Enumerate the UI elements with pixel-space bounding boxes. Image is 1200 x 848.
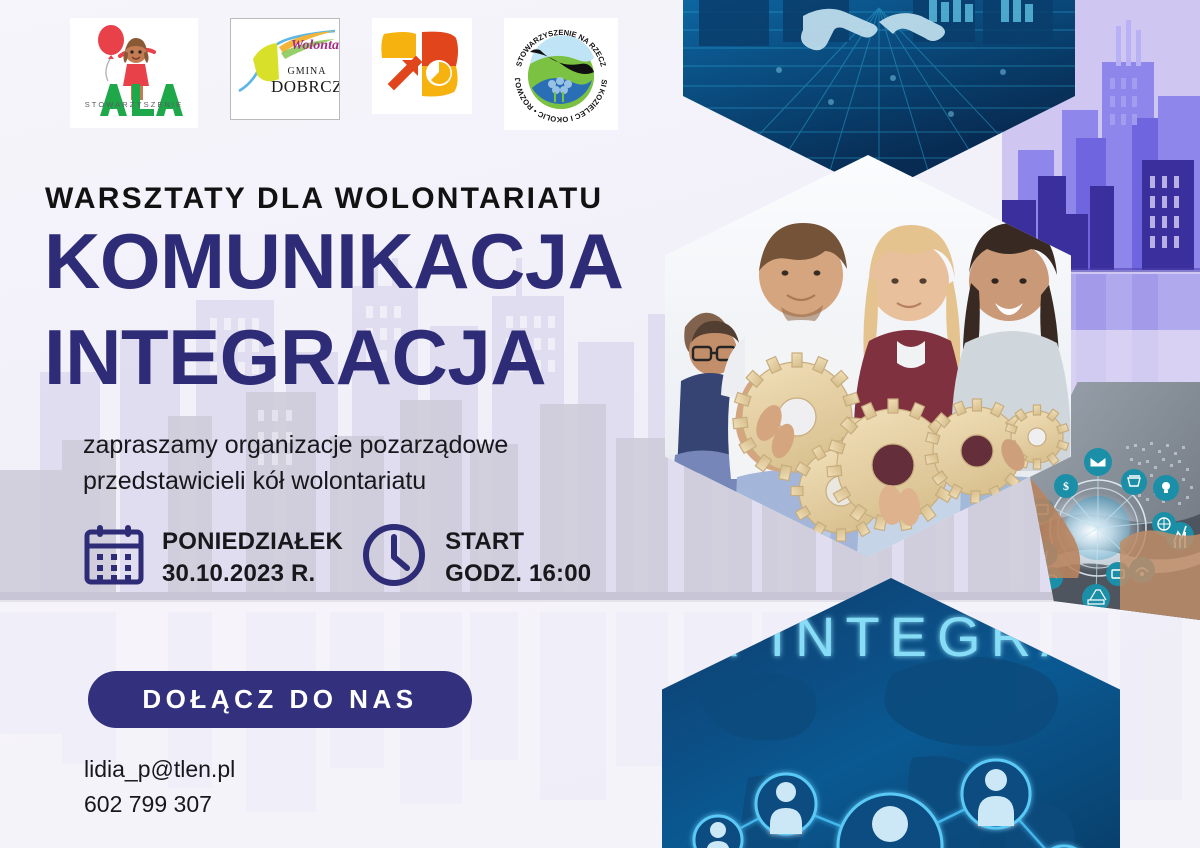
svg-text:DOBRCZ: DOBRCZ (271, 77, 339, 96)
svg-text:$: $ (1063, 479, 1069, 493)
lead-line-1: zapraszamy organizacje pozarządowe (83, 428, 508, 464)
kicker-text: WARSZTATY DLA WOLONTARIATU (45, 182, 603, 216)
event-day: PONIEDZIAŁEK (162, 526, 343, 558)
contact-phone[interactable]: 602 799 307 (84, 787, 235, 822)
event-details: PONIEDZIAŁEK 30.10.2023 R. START GODZ. 1… (84, 522, 591, 593)
headline-line-1: KOMUNIKACJA (44, 222, 624, 300)
contact-block: lidia_p@tlen.pl 602 799 307 (84, 752, 235, 822)
logo-stowarzyszenie-ala: STOWARZYSZENIE (70, 18, 198, 128)
event-date: 30.10.2023 R. (162, 558, 343, 590)
svg-text:STOWARZYSZENIE: STOWARZYSZENIE (85, 100, 184, 109)
logo-orange-abstract (372, 18, 472, 114)
logo-wolontariat-gmina-dobrcz: Wolontariat GMINA DOBRCZ (230, 18, 340, 120)
event-start-label: START (445, 526, 591, 558)
event-time: GODZ. 16:00 (445, 558, 591, 590)
partner-logos: STOWARZYSZENIE Wolontariat GMINA DOBRCZ (70, 18, 618, 130)
lead-line-2: przedstawicieli kół wolontariatu (83, 464, 508, 500)
lead-paragraph: zapraszamy organizacje pozarządowe przed… (83, 428, 508, 499)
hex-photo-network-integration: A INTEGRA (662, 578, 1120, 848)
calendar-icon (84, 524, 144, 591)
headline-line-2: INTEGRACJA (44, 318, 546, 396)
clock-icon (361, 522, 427, 593)
event-time-block: START GODZ. 16:00 (445, 526, 591, 589)
poster-canvas: STOWARZYSZENIE Wolontariat GMINA DOBRCZ (0, 0, 1200, 848)
svg-text:GMINA: GMINA (288, 66, 327, 77)
join-us-button[interactable]: DOŁĄCZ DO NAS (88, 671, 472, 728)
logo-stowarzyszenie-rozwoju-wsi: STOWARZYSZENIE NA RZECZ WSI KOZIELEC I O… (504, 18, 618, 130)
svg-text:Wolontariat: Wolontariat (291, 38, 339, 53)
contact-email[interactable]: lidia_p@tlen.pl (84, 752, 235, 787)
event-date-block: PONIEDZIAŁEK 30.10.2023 R. (162, 526, 343, 589)
